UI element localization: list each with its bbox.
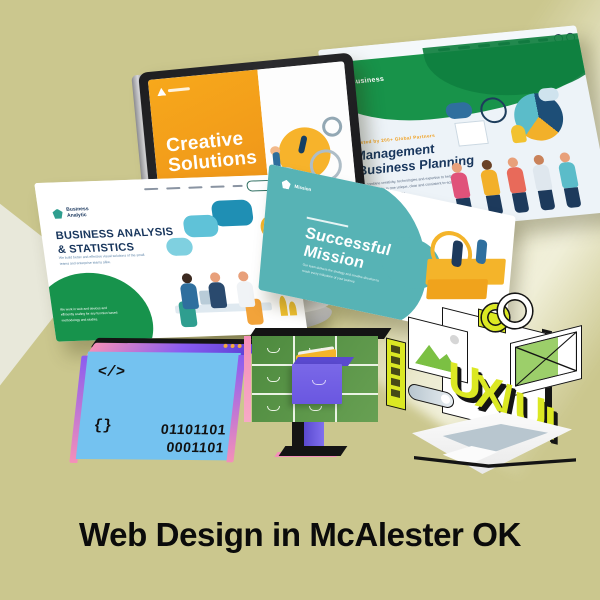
speech-bubble-2 [182,215,219,238]
speech-bubble-1 [444,101,473,119]
window-dot-icon [223,344,227,348]
person-figure [530,154,557,211]
person-figure [235,271,256,307]
window-dot-icon [230,344,234,348]
toolbar-palette[interactable] [386,338,406,411]
curly-brace-icon: {} [93,417,113,434]
cabinet-foot [279,446,348,456]
code-browser-window[interactable]: </> {} 01101101 0001101 [75,352,247,467]
speech-bubble-2 [537,87,559,102]
card-ba-blob-text: We work in web and devices and efficient… [60,305,123,323]
logo-mark-icon [281,179,291,190]
page-title: Web Design in McAlester OK [0,516,600,554]
poster-canvas: Business Trusted by 200+ Global Partners… [0,0,600,600]
green-file-cabinet-monitor[interactable] [252,336,382,470]
binary-line-1: 01101101 [160,421,227,439]
code-tag-icon: </> [97,364,126,381]
binary-text: 01101101 0001101 [158,421,227,456]
code-window-screen[interactable]: </> {} 01101101 0001101 [76,352,241,461]
card-ba-logo-text: Business Analytic [66,207,90,219]
cabinet-stand-neck [304,422,324,448]
person-figure [556,152,583,209]
card-teal-logo-text: Mission [294,184,311,193]
person-figure [504,157,531,214]
document-graphic [454,120,489,146]
window-controls[interactable] [223,344,242,348]
window-dot-icon [237,344,241,348]
monitor-headline: Creative Solutions [165,128,258,176]
logo-mark-icon [157,87,167,96]
speech-bubble-3 [165,237,194,256]
sun-shape [450,334,459,345]
binary-line-2: 0001101 [158,438,225,456]
cabinet-left-frame [244,336,251,422]
ux-ui-laptop[interactable]: U X / U I [386,296,586,492]
logo-mark-icon [52,209,63,219]
card-ba-subtitle: We build better and effective visual sol… [59,253,153,268]
card-ba-logo[interactable]: Business Analytic [52,207,90,219]
person-figure [475,239,487,265]
gear-icon [498,294,532,328]
gear-icon [321,116,343,138]
person-figure [478,159,505,216]
